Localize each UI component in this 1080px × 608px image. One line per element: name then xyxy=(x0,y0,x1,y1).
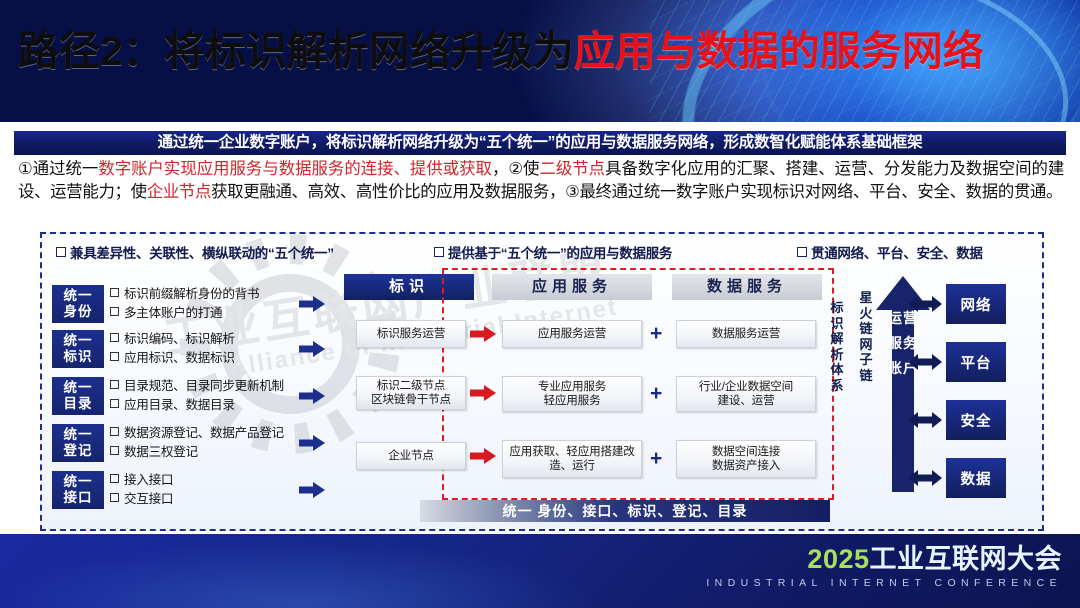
red-arrow-icon-3 xyxy=(470,448,496,464)
checkbox-icon xyxy=(110,380,119,389)
para-segment-7: 获取更融通、高效、高性价比的应用及数据服务，③最终通过统一数字账户实现标识对网络… xyxy=(211,183,1062,201)
vertical-label-identity-system: 标识解析体系 xyxy=(828,300,846,393)
identity-box-2: 标识二级节点 区块链骨干节点 xyxy=(356,376,466,410)
list-item-label: 标识编码、标识解析 xyxy=(124,332,235,346)
checkbox-icon xyxy=(110,474,119,483)
body-paragraph: ①通过统一数字账户实现应用服务与数据服务的连接、提供或获取，②使二级节点具备数字… xyxy=(18,158,1064,204)
identity-box-3: 企业节点 xyxy=(356,442,466,470)
conference-logo-year: 2025 xyxy=(807,544,869,574)
checkbox-header-1-label: 兼具差异性、关联性、横纵联动的“五个统一” xyxy=(70,246,334,261)
app-box-3: 应用获取、轻应用搭建改造、运行 xyxy=(502,440,642,478)
conference-logo-subtitle: INDUSTRIAL INTERNET CONFERENCE xyxy=(706,575,1062,591)
unified-tag-registration: 统一登记 xyxy=(52,424,104,462)
blue-arrow-icon-3 xyxy=(299,388,325,404)
list-item: 标识编码、标识解析 xyxy=(110,330,235,349)
blue-arrow-icon-4 xyxy=(299,435,325,451)
checkbox-header-1: 兼具差异性、关联性、横纵联动的“五个统一” xyxy=(56,242,334,262)
unified-items-label: 标识编码、标识解析 应用标识、数据标识 xyxy=(110,330,235,368)
para-segment-4-red: 二级节点 xyxy=(539,160,605,178)
list-item-label: 多主体账户的打通 xyxy=(124,306,222,320)
list-item-label: 数据资源登记、数据产品登记 xyxy=(124,426,284,440)
double-arrow-icon-4 xyxy=(908,470,942,486)
right-box-network: 网络 xyxy=(946,284,1006,324)
summary-banner: 通过统一企业数字账户，将标识解析网络升级为“五个统一”的应用与数据服务网络，形成… xyxy=(14,131,1066,155)
list-item: 应用标识、数据标识 xyxy=(110,349,235,368)
unified-tag-label-bottom: 标识 xyxy=(64,349,93,365)
data-box-1: 数据服务运营 xyxy=(676,320,816,348)
footer-band: 2025工业互联网大会 INDUSTRIAL INTERNET CONFEREN… xyxy=(0,534,1080,608)
list-item-label: 交互接口 xyxy=(124,492,173,506)
bottom-unified-bar: 统一 身份、接口、标识、登记、目录 xyxy=(420,500,830,522)
unified-tag-interface: 统一接口 xyxy=(52,471,104,509)
unified-tag-directory-bottom: 目录 xyxy=(64,396,93,412)
list-item: 应用目录、数据目录 xyxy=(110,396,284,415)
data-box-3: 数据空间连接 数据资产接入 xyxy=(676,440,816,478)
vertical-label-xinghuo-chain: 星火链网子链 xyxy=(856,290,876,383)
right-box-platform: 平台 xyxy=(946,342,1006,382)
double-arrow-icon-2 xyxy=(908,354,942,370)
list-item: 数据资源登记、数据产品登记 xyxy=(110,424,284,443)
red-arrow-icon-2 xyxy=(470,385,496,401)
unified-tag-registration-bottom: 登记 xyxy=(64,443,93,459)
unified-tag-label-top: 统一 xyxy=(64,333,93,349)
checkbox-icon-1 xyxy=(56,247,66,257)
unified-tag-identity: 统一身份 xyxy=(52,285,104,323)
list-item-label: 数据三权登记 xyxy=(124,445,198,459)
list-item-label: 标识前缀解析身份的背书 xyxy=(124,287,259,301)
unified-tag-interface-bottom: 接口 xyxy=(64,490,93,506)
list-item: 目录规范、目录同步更新机制 xyxy=(110,377,284,396)
checkbox-icon xyxy=(110,427,119,436)
checkbox-icon xyxy=(110,493,119,502)
checkbox-icon-3 xyxy=(797,247,807,257)
double-arrow-icon-1 xyxy=(908,296,942,312)
app-box-2: 专业应用服务 轻应用服务 xyxy=(502,376,642,412)
app-box-1: 应用服务运营 xyxy=(502,320,642,348)
blue-arrow-icon-1 xyxy=(299,296,325,312)
para-segment-3: ，②使 xyxy=(492,160,540,178)
plus-icon-3: + xyxy=(650,447,662,471)
unified-items-identity: 标识前缀解析身份的背书 多主体账户的打通 xyxy=(110,285,259,323)
unified-tag-identity-top: 统一 xyxy=(64,288,93,304)
unified-tag-identity-bottom: 身份 xyxy=(64,304,93,320)
data-box-2: 行业/企业数据空间 建设、运营 xyxy=(676,376,816,412)
title-band: 路径2：将标识解析网络升级为应用与数据的服务网络 xyxy=(0,0,1080,122)
list-item: 标识前缀解析身份的背书 xyxy=(110,285,259,304)
list-item: 多主体账户的打通 xyxy=(110,304,259,323)
checkbox-header-2: 提供基于“五个统一”的应用与数据服务 xyxy=(434,242,672,262)
para-segment-2-red: 数字账户实现应用服务与数据服务的连接、提供或获取 xyxy=(98,160,492,178)
page-title-highlight: 应用与数据的服务网络 xyxy=(574,28,984,74)
unified-items-registration: 数据资源登记、数据产品登记 数据三权登记 xyxy=(110,424,284,462)
page-title-plain: 路径2：将标识解析网络升级为 xyxy=(18,28,574,74)
plus-icon-2: + xyxy=(650,382,662,406)
unified-tag-label: 统一标识 xyxy=(52,330,104,368)
conference-logo-name: 工业互联网大会 xyxy=(870,544,1063,574)
right-box-security: 安全 xyxy=(946,400,1006,440)
list-item: 交互接口 xyxy=(110,490,173,509)
list-item-label: 目录规范、目录同步更新机制 xyxy=(124,379,284,393)
para-segment-1: ①通过统一 xyxy=(18,160,98,178)
list-item: 数据三权登记 xyxy=(110,443,284,462)
red-arrow-icon-1 xyxy=(470,326,496,342)
blue-arrow-icon-5 xyxy=(299,482,325,498)
unified-tag-registration-top: 统一 xyxy=(64,427,93,443)
unified-items-directory: 目录规范、目录同步更新机制 应用目录、数据目录 xyxy=(110,377,284,415)
unified-tag-interface-top: 统一 xyxy=(64,474,93,490)
para-segment-6-red: 企业节点 xyxy=(147,183,211,201)
page-title: 路径2：将标识解析网络升级为应用与数据的服务网络 xyxy=(18,26,1074,77)
right-box-data: 数据 xyxy=(946,458,1006,498)
conference-logo-main: 2025工业互联网大会 xyxy=(706,544,1062,574)
checkbox-icon xyxy=(110,446,119,455)
conference-logo: 2025工业互联网大会 INDUSTRIAL INTERNET CONFEREN… xyxy=(706,544,1062,591)
checkbox-icon xyxy=(110,307,119,316)
checkbox-icon xyxy=(110,333,119,342)
checkbox-icon xyxy=(110,288,119,297)
unified-tag-directory-top: 统一 xyxy=(64,380,93,396)
checkbox-icon xyxy=(110,399,119,408)
checkbox-icon xyxy=(110,352,119,361)
plus-icon-1: + xyxy=(650,322,662,346)
checkbox-header-3: 贯通网络、平台、安全、数据 xyxy=(797,242,983,262)
checkbox-icon-2 xyxy=(434,247,444,257)
checkbox-header-2-label: 提供基于“五个统一”的应用与数据服务 xyxy=(448,246,672,261)
list-item-label: 应用目录、数据目录 xyxy=(124,398,235,412)
unified-items-interface: 接入接口 交互接口 xyxy=(110,471,173,509)
list-item-label: 接入接口 xyxy=(124,473,173,487)
double-arrow-icon-3 xyxy=(908,412,942,428)
identity-box-1: 标识服务运营 xyxy=(356,320,466,348)
list-item-label: 应用标识、数据标识 xyxy=(124,351,235,365)
blue-arrow-icon-2 xyxy=(299,341,325,357)
checkbox-header-3-label: 贯通网络、平台、安全、数据 xyxy=(811,246,983,261)
list-item: 接入接口 xyxy=(110,471,173,490)
unified-tag-directory: 统一目录 xyxy=(52,377,104,415)
